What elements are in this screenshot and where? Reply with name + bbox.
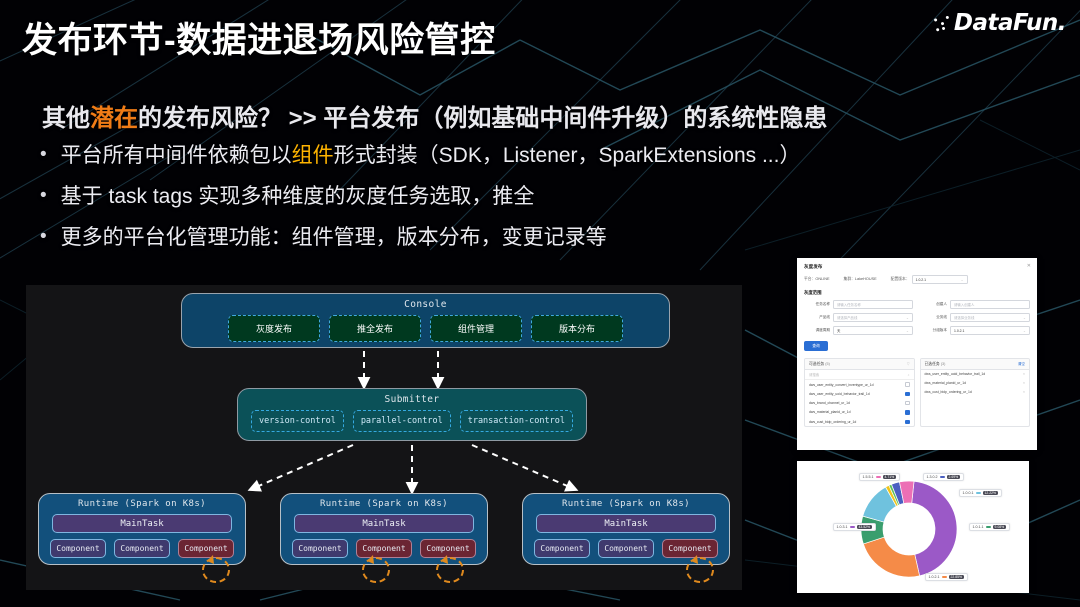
bullet-text: 更多的平台化管理功能：组件管理，版本分布，变更记录等 [61,225,607,250]
schedule-cycle-value: 天 [837,328,840,333]
subtitle-part1: 其他 [42,105,90,132]
list-item[interactable]: dws_user_entity_uoid_behavior_trail_1d [805,389,914,398]
remove-icon[interactable]: × [1023,381,1025,385]
component-box-highlighted: Component [662,539,718,558]
field-group-version: 分组版本 1.0.2.1⌄ [921,326,1030,335]
chevron-down-icon: ⌄ [961,278,964,282]
donut-label-1021: 1.0.2.1 22.85% [925,573,968,581]
console-title: Console [404,299,447,310]
list-item-label: dws_user_entity_uoid_behavior_trail_1d [809,392,870,396]
donut-swatch [942,576,947,579]
bullet-text: 基于 task tags 实现多种维度的灰度任务选取，推全 [61,184,535,209]
meta-config-version: 配置版本： 1.0.2.1⌄ [891,275,968,284]
list-item: • 平台所有中间件依赖包以组件形式封装（SDK，Listener，SparkEx… [40,143,800,168]
transfer-list: 可选任务 (5) ▽ 请搜索 ⌕ dws_user_entity_convert… [804,358,1030,427]
transfer-right-header: 已选任务 (3) 清空 [921,359,1030,370]
logo-text: DataFun. [954,10,1066,36]
bullet-marker: • [40,225,47,249]
console-chip-component-mgmt[interactable]: 组件管理 [430,315,522,342]
component-row: Component Component Component [292,539,476,558]
component-box-highlighted: Component [356,539,412,558]
checkbox-checked[interactable] [905,392,910,397]
close-icon[interactable]: ✕ [1027,263,1031,269]
list-item: • 基于 task tags 实现多种维度的灰度任务选取，推全 [40,184,800,209]
component-row: Component Component Component [50,539,234,558]
business-line-placeholder: 请选择业务线 [954,315,974,320]
meta-platform-value: ONLINE [815,277,829,281]
list-item-label: dws_user_entity_uoid_behavior_trail_1d [925,372,986,376]
bullet-text: 平台所有中间件依赖包以组件形式封装（SDK，Listener，SparkExte… [61,143,801,168]
console-chip-row: 灰度发布 推全发布 组件管理 版本分布 [228,315,623,342]
field-label: 调度周期 [804,328,830,333]
dialog-title: 灰度发布 [804,264,1030,270]
console-chip-version-dist[interactable]: 版本分布 [531,315,623,342]
search-icon: ⌕ [908,373,910,377]
submitter-box: Submitter version-control parallel-contr… [237,388,587,441]
component-box: Component [114,539,170,558]
field-label: 业务线 [921,315,947,320]
list-item-label: dws_cust_bidp_ordering_ur_1d [809,420,856,424]
component-box-highlighted: Component [178,539,234,558]
subtitle-highlight: 潜在 [90,105,138,132]
donut-label-name: 1.0.0.1 [963,491,974,495]
donut-swatch [876,476,881,479]
runtime-box: Runtime (Spark on K8s) MainTask Componen… [522,493,730,565]
query-button[interactable]: 查询 [804,341,828,351]
donut-swatch [976,492,981,495]
chevron-down-icon: ⌄ [1023,329,1026,333]
checkbox[interactable] [905,382,910,387]
group-version-select[interactable]: 1.0.2.1⌄ [950,326,1030,335]
field-creator: 创建人 请输入创建人 [921,300,1030,309]
datafun-dots-logo-icon [934,15,952,31]
console-chip-full-release[interactable]: 推全发布 [329,315,421,342]
donut-label-1011: 1.0.1.1 9.08% [969,523,1010,531]
checkbox-checked[interactable] [905,420,910,425]
refresh-circle-icon [436,557,464,583]
donut-label-pct: 12.22% [983,491,999,495]
version-distribution-chart-screenshot: 1.0.3.1 43.52% 1.0.2.1 22.85% 1.0.1.1 9.… [797,461,1029,593]
donut-swatch [940,476,945,479]
donut-label-pct: 9.08% [993,525,1007,529]
creator-input[interactable]: 请输入创建人 [950,300,1030,309]
bullet-marker: • [40,184,47,208]
subtitle-part2: 的发布风险？ >> 平台发布（例如基础中间件升级）的系统性隐患 [138,105,827,132]
list-item: • 更多的平台化管理功能：组件管理，版本分布，变更记录等 [40,225,800,250]
remove-icon[interactable]: × [1023,390,1025,394]
section-title-scope: 灰度范围 [804,290,1030,296]
meta-platform-label: 平台： [804,277,815,281]
donut-label-name: 1.0.3.1 [837,525,848,529]
list-item[interactable]: dws_material_planid_ur_1d [805,408,914,417]
donut-label-1031: 1.0.3.1 43.52% [833,523,876,531]
submitter-chip-transaction-control[interactable]: transaction-control [460,410,573,432]
list-item[interactable]: dws_material_planid_ur_1d× [921,379,1030,388]
donut-label-1302: 1.3.0.2 2.69% [923,473,964,481]
list-item[interactable]: dws_cust_bidp_ordering_ur_1d× [921,388,1030,397]
meta-platform: 平台：ONLINE [804,277,830,282]
filter-form-grid: 任务名称 请输入任务名称 创建人 请输入创建人 产品线 请选择产品线⌄ 业务线 … [804,300,1030,335]
list-item-label: dws_cust_bidp_ordering_ur_1d [925,390,972,394]
field-label: 产品线 [804,315,830,320]
architecture-diagram: Console 灰度发布 推全发布 组件管理 版本分布 Submitter ve… [26,285,742,590]
chevron-down-icon: ⌄ [1023,316,1026,320]
checkbox-checked[interactable] [905,410,910,415]
transfer-left-header: 可选任务 (5) ▽ [805,359,914,370]
donut-slice[interactable] [912,481,957,576]
list-item-label: dws_material_planid_ur_1d [925,381,966,385]
transfer-right-count: (3) [941,362,946,366]
product-line-placeholder: 请选择产品线 [837,315,857,320]
field-label: 分组版本 [921,328,947,333]
refresh-circle-icon [202,557,230,583]
runtime-title: Runtime (Spark on K8s) [320,499,448,509]
refresh-circle-icon [686,557,714,583]
runtime-title: Runtime (Spark on K8s) [78,499,206,509]
list-item[interactable]: dws_brand_channel_ur_1d [805,399,914,408]
transfer-search[interactable]: 请搜索 ⌕ [805,370,914,380]
submitter-chip-row: version-control parallel-control transac… [251,410,573,432]
component-box-highlighted: Component [420,539,476,558]
submitter-chip-version-control[interactable]: version-control [251,410,344,432]
meta-cluster-label: 集群： [844,277,855,281]
schedule-cycle-select[interactable]: 天⌄ [833,326,913,335]
submitter-title: Submitter [384,394,439,405]
checkbox[interactable] [905,401,910,406]
maintask-box: MainTask [52,514,232,533]
bullet-marker: • [40,143,47,167]
donut-label-pct: 22.85% [949,575,965,579]
runtime-box: Runtime (Spark on K8s) MainTask Componen… [280,493,488,565]
search-placeholder: 请搜索 [809,372,819,377]
field-task-name: 任务名称 请输入任务名称 [804,300,913,309]
field-business-line: 业务线 请选择业务线⌄ [921,313,1030,322]
runtime-box: Runtime (Spark on K8s) MainTask Componen… [38,493,246,565]
gray-release-dialog-screenshot: ✕ 灰度发布 平台：ONLINE 集群：LakeHOUSE 配置版本： 1.0.… [797,258,1037,450]
component-box: Component [534,539,590,558]
datafun-logo: DataFun. [935,10,1066,36]
component-row: Component Component Component [534,539,718,558]
component-box: Component [292,539,348,558]
runtime-title: Runtime (Spark on K8s) [562,499,690,509]
meta-config-version-label: 配置版本： [891,277,910,282]
component-box: Component [598,539,654,558]
donut-chart: 1.0.3.1 43.52% 1.0.2.1 22.85% 1.0.1.1 9.… [797,461,1029,593]
component-box: Component [50,539,106,558]
donut-label-name: 1.3.0.2 [927,475,938,479]
submitter-chip-parallel-control[interactable]: parallel-control [353,410,451,432]
clear-all-button[interactable]: 清空 [1018,362,1025,367]
donut-label-name: 1.0.1.1 [973,525,984,529]
donut-label-name: 1.5.5.1 [863,475,874,479]
donut-swatch [850,526,855,529]
transfer-left-count: (5) [825,362,830,366]
slide-subtitle: 其他潜在的发布风险？ >> 平台发布（例如基础中间件升级）的系统性隐患 [42,98,827,133]
business-line-select[interactable]: 请选择业务线⌄ [950,313,1030,322]
console-box: Console 灰度发布 推全发布 组件管理 版本分布 [181,293,670,348]
product-line-select[interactable]: 请选择产品线⌄ [833,313,913,322]
field-product-line: 产品线 请选择产品线⌄ [804,313,913,322]
donut-slice[interactable] [863,537,919,577]
transfer-right-panel: 已选任务 (3) 清空 dws_user_entity_uoid_behavio… [920,358,1031,427]
bullet-pre: 平台所有中间件依赖包以 [61,144,292,167]
donut-label-pct: 43.52% [857,525,873,529]
field-label: 任务名称 [804,302,830,307]
console-chip-gray-release[interactable]: 灰度发布 [228,315,320,342]
transfer-left-panel: 可选任务 (5) ▽ 请搜索 ⌕ dws_user_entity_convert… [804,358,915,427]
list-item[interactable]: dws_user_entity_convert_inventype_ur_1d [805,380,914,389]
header-band: 发布环节-数据进退场风险管控 [0,0,1080,78]
bullet-list: • 平台所有中间件依赖包以组件形式封装（SDK，Listener，SparkEx… [40,143,800,267]
transfer-right-title: 已选任务 (3) [925,362,946,367]
maintask-box: MainTask [294,514,474,533]
page-title: 发布环节-数据进退场风险管控 [22,12,496,63]
dialog-meta-row: 平台：ONLINE 集群：LakeHOUSE 配置版本： 1.0.2.1⌄ [804,275,1030,284]
remove-icon[interactable]: × [1023,372,1025,376]
list-item-label: dws_user_entity_convert_inventype_ur_1d [809,383,873,387]
list-item-label: dws_material_planid_ur_1d [809,410,850,414]
donut-label-name: 1.0.2.1 [929,575,940,579]
task-name-placeholder: 请输入任务名称 [837,302,861,307]
donut-label-pct: 2.69% [947,475,961,479]
list-item-label: dws_brand_channel_ur_1d [809,401,850,405]
list-item[interactable]: dws_user_entity_uoid_behavior_trail_1d× [921,370,1030,379]
donut-label-1001: 1.0.0.1 12.22% [959,489,1002,497]
meta-cluster: 集群：LakeHOUSE [844,277,877,282]
donut-label-pct: 4.71% [883,475,897,479]
config-version-value: 1.0.2.1 [916,278,926,282]
group-version-value: 1.0.2.1 [954,329,964,333]
bullet-highlight: 组件 [292,144,334,167]
bullet-post: 形式封装（SDK，Listener，SparkExtensions ...） [334,144,801,167]
maintask-box: MainTask [536,514,716,533]
creator-placeholder: 请输入创建人 [954,302,974,307]
field-schedule-cycle: 调度周期 天⌄ [804,326,913,335]
meta-cluster-value: LakeHOUSE [855,277,877,281]
filter-icon[interactable]: ▽ [907,362,910,366]
refresh-circle-icon [362,557,390,583]
task-name-input[interactable]: 请输入任务名称 [833,300,913,309]
chevron-down-icon: ⌄ [906,316,909,320]
field-label: 创建人 [921,302,947,307]
chevron-down-icon: ⌄ [906,329,909,333]
config-version-select[interactable]: 1.0.2.1⌄ [912,275,968,284]
donut-swatch [986,526,991,529]
transfer-left-title: 可选任务 (5) [809,362,830,367]
donut-label-1551: 1.5.5.1 4.71% [859,473,900,481]
list-item[interactable]: dws_cust_bidp_ordering_ur_1d [805,417,914,426]
